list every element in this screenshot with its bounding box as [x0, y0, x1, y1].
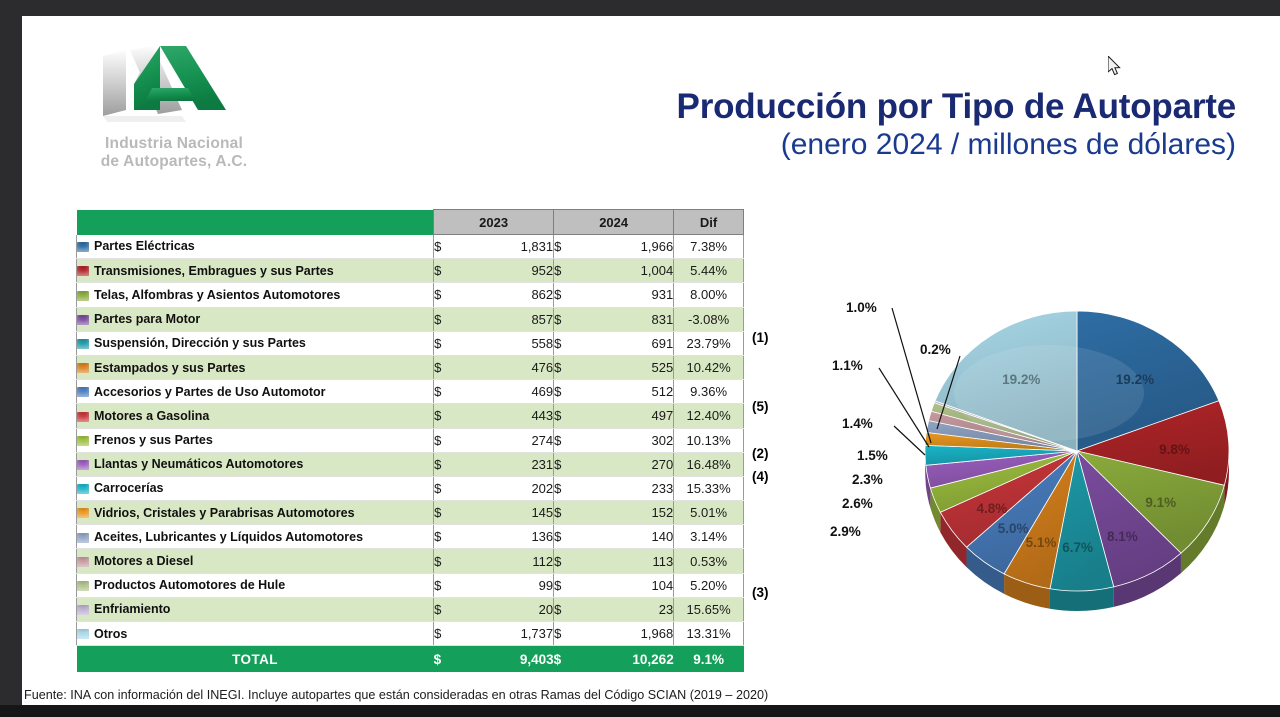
row-dif-value: 10.13% [674, 428, 744, 452]
row-2024-value: 302 [580, 428, 673, 452]
production-table-wrapper: 2023 2024 Dif Partes Eléctricas$1,831$1,… [76, 209, 744, 672]
row-name-cell: Accesorios y Partes de Uso Automotor [77, 380, 434, 404]
table-row: Enfriamiento$20$2315.65% [77, 597, 744, 621]
row-name-cell: Motores a Diesel [77, 549, 434, 573]
row-2023-currency: $ [434, 259, 461, 283]
legend-swatch-icon [77, 315, 89, 325]
row-2024-currency: $ [554, 549, 581, 573]
row-name-cell: Suspensión, Dirección y sus Partes [77, 331, 434, 355]
row-2024-currency: $ [554, 404, 581, 428]
table-row: Llantas y Neumáticos Automotores$231$270… [77, 452, 744, 476]
row-2024-currency: $ [554, 501, 581, 525]
slide-title-block: Producción por Tipo de Autoparte (enero … [677, 88, 1236, 161]
footnote-marker: (3) [752, 585, 769, 600]
row-dif-value: 9.36% [674, 380, 744, 404]
row-2023-value: 558 [460, 331, 553, 355]
table-total-row: TOTAL $ 9,403 $ 10,262 9.1% [77, 646, 744, 673]
pie-chart: 19.2%9.8%9.1%8.1%6.7%5.1%5.0%4.8%19.2%2.… [822, 286, 1262, 656]
ina-logo-mark [90, 44, 265, 129]
row-2023-currency: $ [434, 404, 461, 428]
legend-swatch-icon [77, 629, 89, 639]
row-2023-currency: $ [434, 501, 461, 525]
presenter-frame-top [0, 0, 1280, 16]
table-row: Suspensión, Dirección y sus Partes$558$6… [77, 331, 744, 355]
row-dif-value: 5.20% [674, 573, 744, 597]
table-row: Partes Eléctricas$1,831$1,9667.38% [77, 235, 744, 259]
row-label: Aceites, Lubricantes y Líquidos Automoto… [94, 530, 363, 544]
row-2024-currency: $ [554, 622, 581, 646]
row-dif-value: 5.01% [674, 501, 744, 525]
row-2023-currency: $ [434, 331, 461, 355]
row-2024-currency: $ [554, 307, 581, 331]
legend-swatch-icon [77, 363, 89, 373]
row-2023-value: 1,831 [460, 235, 553, 259]
source-footnote: Fuente: INA con información del INEGI. I… [24, 688, 768, 702]
row-dif-value: 13.31% [674, 622, 744, 646]
row-label: Accesorios y Partes de Uso Automotor [94, 385, 326, 399]
row-2024-value: 23 [580, 597, 673, 621]
row-2023-value: 443 [460, 404, 553, 428]
row-name-cell: Enfriamiento [77, 597, 434, 621]
row-2023-currency: $ [434, 355, 461, 379]
row-label: Vidrios, Cristales y Parabrisas Automoto… [94, 506, 355, 520]
row-dif-value: 10.42% [674, 355, 744, 379]
table-header: 2023 2024 Dif [77, 210, 744, 235]
pie-slice-label: 4.8% [976, 501, 1007, 516]
pie-slice-label: 0.2% [920, 342, 951, 357]
row-dif-value: 5.44% [674, 259, 744, 283]
row-label: Productos Automotores de Hule [94, 578, 285, 592]
row-label: Motores a Gasolina [94, 409, 209, 423]
row-2024-value: 497 [580, 404, 673, 428]
table-footer: TOTAL $ 9,403 $ 10,262 9.1% [77, 646, 744, 673]
row-2024-value: 691 [580, 331, 673, 355]
ina-logo-subtitle-line2: de Autopartes, A.C. [74, 153, 274, 171]
row-2023-currency: $ [434, 573, 461, 597]
row-2024-value: 140 [580, 525, 673, 549]
row-dif-value: 16.48% [674, 452, 744, 476]
table-header-2023: 2023 [434, 210, 554, 235]
slide-canvas: Industria Nacional de Autopartes, A.C. P… [22, 16, 1280, 705]
row-2024-currency: $ [554, 380, 581, 404]
ina-logo-icon [90, 44, 265, 129]
ina-logo: Industria Nacional de Autopartes, A.C. [74, 44, 304, 194]
row-2023-value: 1,737 [460, 622, 553, 646]
table-row: Vidrios, Cristales y Parabrisas Automoto… [77, 501, 744, 525]
row-2024-value: 113 [580, 549, 673, 573]
row-2023-value: 145 [460, 501, 553, 525]
legend-swatch-icon [77, 412, 89, 422]
pie-slice-label: 9.1% [1145, 495, 1176, 510]
table-row: Partes para Motor$857$831-3.08% [77, 307, 744, 331]
row-2024-currency: $ [554, 428, 581, 452]
row-2023-value: 99 [460, 573, 553, 597]
row-label: Llantas y Neumáticos Automotores [94, 457, 303, 471]
screen: Industria Nacional de Autopartes, A.C. P… [0, 0, 1280, 717]
pie-slice-label: 1.0% [846, 300, 877, 315]
table-row: Frenos y sus Partes$274$30210.13% [77, 428, 744, 452]
row-label: Carrocerías [94, 481, 164, 495]
row-label: Suspensión, Dirección y sus Partes [94, 336, 306, 350]
row-2023-value: 231 [460, 452, 553, 476]
page-title: Producción por Tipo de Autoparte [677, 88, 1236, 126]
pie-slice-label: 1.1% [832, 358, 863, 373]
row-2023-currency: $ [434, 549, 461, 573]
row-2024-value: 931 [580, 283, 673, 307]
legend-swatch-icon [77, 460, 89, 470]
row-2024-value: 104 [580, 573, 673, 597]
row-2023-value: 112 [460, 549, 553, 573]
pie-slice-label: 2.9% [830, 524, 861, 539]
row-2024-value: 525 [580, 355, 673, 379]
row-2023-value: 469 [460, 380, 553, 404]
footnote-marker: (2) [752, 446, 769, 461]
row-2024-currency: $ [554, 573, 581, 597]
presenter-frame-left [0, 0, 22, 717]
pie-slice-label: 9.8% [1159, 442, 1190, 457]
row-label: Partes Eléctricas [94, 239, 195, 253]
row-name-cell: Frenos y sus Partes [77, 428, 434, 452]
presenter-frame-bottom [0, 705, 1280, 717]
table-row: Accesorios y Partes de Uso Automotor$469… [77, 380, 744, 404]
legend-swatch-icon [77, 242, 89, 252]
row-2023-currency: $ [434, 235, 461, 259]
row-2024-value: 270 [580, 452, 673, 476]
row-2024-currency: $ [554, 597, 581, 621]
row-2023-currency: $ [434, 452, 461, 476]
total-dif-value: 9.1% [674, 646, 744, 673]
row-name-cell: Llantas y Neumáticos Automotores [77, 452, 434, 476]
row-2023-value: 274 [460, 428, 553, 452]
pie-slice-label: 19.2% [1002, 372, 1040, 387]
pie-slice-label: 2.6% [842, 496, 873, 511]
legend-swatch-icon [77, 581, 89, 591]
row-2024-currency: $ [554, 452, 581, 476]
legend-swatch-icon [77, 605, 89, 615]
table-row: Otros$1,737$1,96813.31% [77, 622, 744, 646]
row-name-cell: Productos Automotores de Hule [77, 573, 434, 597]
table-row: Motores a Diesel$112$1130.53% [77, 549, 744, 573]
row-2024-value: 831 [580, 307, 673, 331]
row-2023-currency: $ [434, 476, 461, 500]
total-2023-value: 9,403 [460, 646, 553, 673]
table-header-dif: Dif [674, 210, 744, 235]
footnote-marker: (1) [752, 330, 769, 345]
table-row: Aceites, Lubricantes y Líquidos Automoto… [77, 525, 744, 549]
pie-slice-label: 19.2% [1116, 372, 1154, 387]
total-2024-currency: $ [554, 646, 581, 673]
row-label: Partes para Motor [94, 312, 200, 326]
row-2024-currency: $ [554, 331, 581, 355]
row-name-cell: Partes Eléctricas [77, 235, 434, 259]
production-table: 2023 2024 Dif Partes Eléctricas$1,831$1,… [76, 209, 744, 672]
total-2024-value: 10,262 [580, 646, 673, 673]
row-name-cell: Motores a Gasolina [77, 404, 434, 428]
legend-swatch-icon [77, 291, 89, 301]
row-2023-value: 20 [460, 597, 553, 621]
row-dif-value: -3.08% [674, 307, 744, 331]
table-row: Estampados y sus Partes$476$52510.42% [77, 355, 744, 379]
table-header-2024: 2024 [554, 210, 674, 235]
pie-slice-label: 2.3% [852, 472, 883, 487]
row-dif-value: 0.53% [674, 549, 744, 573]
row-2023-currency: $ [434, 380, 461, 404]
row-2024-currency: $ [554, 259, 581, 283]
row-name-cell: Transmisiones, Embragues y sus Partes [77, 259, 434, 283]
row-2023-currency: $ [434, 622, 461, 646]
footnote-marker: (5) [752, 399, 769, 414]
row-2023-value: 862 [460, 283, 553, 307]
row-name-cell: Carrocerías [77, 476, 434, 500]
pie-slice-label: 8.1% [1107, 529, 1138, 544]
row-2023-value: 476 [460, 355, 553, 379]
pie-chart-svg [822, 286, 1262, 656]
table-row: Productos Automotores de Hule$99$1045.20… [77, 573, 744, 597]
row-2024-value: 1,968 [580, 622, 673, 646]
table-row: Transmisiones, Embragues y sus Partes$95… [77, 259, 744, 283]
row-dif-value: 8.00% [674, 283, 744, 307]
legend-swatch-icon [77, 484, 89, 494]
legend-swatch-icon [77, 266, 89, 276]
row-2024-value: 152 [580, 501, 673, 525]
pie-slice-label: 6.7% [1062, 540, 1093, 555]
row-2024-value: 233 [580, 476, 673, 500]
legend-swatch-icon [77, 436, 89, 446]
row-2024-currency: $ [554, 283, 581, 307]
ina-logo-subtitle-line1: Industria Nacional [74, 135, 274, 153]
row-dif-value: 15.33% [674, 476, 744, 500]
table-row: Carrocerías$202$23315.33% [77, 476, 744, 500]
row-dif-value: 7.38% [674, 235, 744, 259]
row-2023-value: 952 [460, 259, 553, 283]
total-2023-currency: $ [434, 646, 461, 673]
pie-slice-label: 1.5% [857, 448, 888, 463]
row-2023-value: 857 [460, 307, 553, 331]
row-2024-currency: $ [554, 355, 581, 379]
row-2023-currency: $ [434, 283, 461, 307]
table-row: Telas, Alfombras y Asientos Automotores$… [77, 283, 744, 307]
ina-logo-subtitle: Industria Nacional de Autopartes, A.C. [74, 135, 274, 172]
row-2023-currency: $ [434, 307, 461, 331]
row-label: Frenos y sus Partes [94, 433, 213, 447]
row-name-cell: Partes para Motor [77, 307, 434, 331]
row-dif-value: 12.40% [674, 404, 744, 428]
row-name-cell: Telas, Alfombras y Asientos Automotores [77, 283, 434, 307]
row-label: Enfriamiento [94, 602, 170, 616]
legend-swatch-icon [77, 339, 89, 349]
row-name-cell: Estampados y sus Partes [77, 355, 434, 379]
row-2024-value: 512 [580, 380, 673, 404]
total-label: TOTAL [77, 646, 434, 673]
table-row: Motores a Gasolina$443$49712.40% [77, 404, 744, 428]
row-2023-currency: $ [434, 597, 461, 621]
page-subtitle: (enero 2024 / millones de dólares) [677, 128, 1236, 162]
pie-slice-label: 5.1% [1026, 535, 1057, 550]
legend-swatch-icon [77, 533, 89, 543]
row-2023-currency: $ [434, 428, 461, 452]
footnote-marker: (4) [752, 469, 769, 484]
row-name-cell: Vidrios, Cristales y Parabrisas Automoto… [77, 501, 434, 525]
row-2024-value: 1,966 [580, 235, 673, 259]
row-label: Transmisiones, Embragues y sus Partes [94, 264, 334, 278]
row-2024-currency: $ [554, 235, 581, 259]
row-2024-value: 1,004 [580, 259, 673, 283]
row-label: Telas, Alfombras y Asientos Automotores [94, 288, 340, 302]
row-2024-currency: $ [554, 525, 581, 549]
row-dif-value: 15.65% [674, 597, 744, 621]
row-dif-value: 3.14% [674, 525, 744, 549]
row-2023-currency: $ [434, 525, 461, 549]
row-label: Estampados y sus Partes [94, 361, 245, 375]
row-2024-currency: $ [554, 476, 581, 500]
row-dif-value: 23.79% [674, 331, 744, 355]
pie-slice-label: 5.0% [998, 521, 1029, 536]
row-name-cell: Otros [77, 622, 434, 646]
table-header-blank [77, 210, 434, 235]
legend-swatch-icon [77, 508, 89, 518]
pie-slice-label: 1.4% [842, 416, 873, 431]
row-label: Motores a Diesel [94, 554, 193, 568]
legend-swatch-icon [77, 387, 89, 397]
row-2023-value: 136 [460, 525, 553, 549]
table-body: Partes Eléctricas$1,831$1,9667.38%Transm… [77, 235, 744, 646]
legend-swatch-icon [77, 557, 89, 567]
row-label: Otros [94, 627, 127, 641]
row-2023-value: 202 [460, 476, 553, 500]
row-name-cell: Aceites, Lubricantes y Líquidos Automoto… [77, 525, 434, 549]
